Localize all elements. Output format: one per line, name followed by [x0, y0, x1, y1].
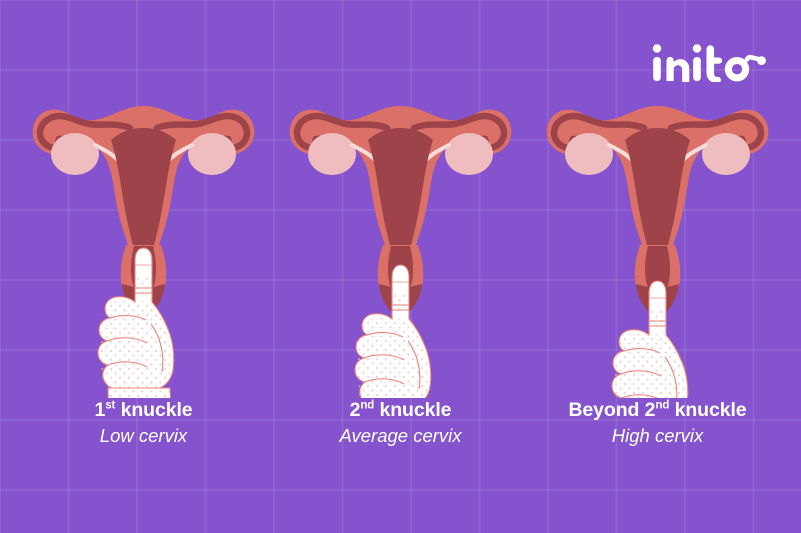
caption-title-sup: nd — [655, 400, 669, 412]
caption-average-cervix: 2nd knuckle Average cervix — [267, 398, 534, 448]
left-ovary — [308, 133, 356, 175]
caption-title-prefix: 2 — [350, 399, 361, 421]
caption-title: 2nd knuckle — [267, 398, 534, 422]
hand-pointing-3 — [612, 281, 688, 398]
left-ovary — [51, 133, 99, 175]
panel-high-cervix: Beyond 2nd knuckle High cervix — [524, 88, 791, 468]
caption-title-sup: nd — [360, 400, 374, 412]
inito-logo — [651, 40, 771, 82]
panel-average-cervix: 2nd knuckle Average cervix — [267, 88, 534, 468]
fist-texture — [615, 334, 687, 398]
right-ovary — [702, 133, 750, 175]
caption-low-cervix: 1st knuckle Low cervix — [10, 398, 277, 448]
caption-subtitle: High cervix — [524, 424, 791, 448]
caption-subtitle: Average cervix — [267, 424, 534, 448]
caption-high-cervix: Beyond 2nd knuckle High cervix — [524, 398, 791, 448]
caption-title-suffix: knuckle — [374, 399, 451, 421]
caption-title: Beyond 2nd knuckle — [524, 398, 791, 422]
infographic-canvas: 1st knuckle Low cervix — [0, 0, 801, 533]
panel-low-cervix: 1st knuckle Low cervix — [10, 88, 277, 468]
right-ovary — [445, 133, 493, 175]
caption-title-suffix: knuckle — [669, 399, 746, 421]
left-ovary — [565, 133, 613, 175]
inito-logo-icon — [651, 40, 771, 82]
caption-title-sup: st — [105, 400, 115, 412]
uterus-finger-illustration-2 — [267, 88, 534, 398]
uterus-finger-illustration-3 — [524, 88, 791, 398]
right-ovary — [188, 133, 236, 175]
caption-subtitle: Low cervix — [10, 424, 277, 448]
caption-title-suffix: knuckle — [115, 399, 192, 421]
fist-texture — [358, 318, 430, 398]
caption-title-prefix: 1 — [94, 399, 105, 421]
uterus-finger-illustration-1 — [10, 88, 277, 398]
caption-title: 1st knuckle — [10, 398, 277, 422]
caption-title-prefix: Beyond 2 — [568, 399, 655, 421]
